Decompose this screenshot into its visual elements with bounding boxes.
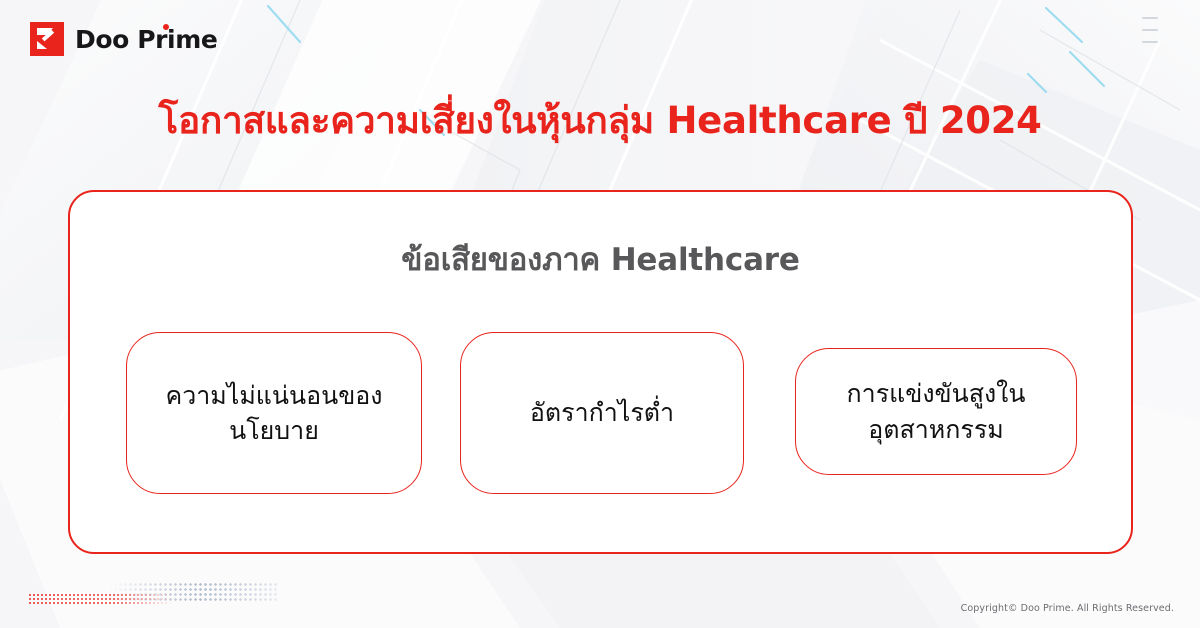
- content-card: ข้อเสียของภาค Healthcare ความไม่แน่นอนขอ…: [68, 190, 1133, 554]
- item-box: ความไม่แน่นอนของนโยบาย: [126, 332, 422, 494]
- brand-name: Doo Prime: [75, 25, 217, 54]
- page-title: โอกาสและความเสี่ยงในหุ้นกลุ่ม Healthcare…: [0, 98, 1200, 144]
- item-box-label: อัตรากำไรต่ำ: [530, 395, 674, 431]
- brand-logo[interactable]: Doo Prime: [30, 22, 217, 56]
- item-box-label: การแข่งขันสูงในอุตสาหกรรม: [810, 376, 1062, 447]
- copyright-notice: Copyright© Doo Prime. All Rights Reserve…: [961, 603, 1174, 614]
- halftone-dots-decoration-icon: [28, 582, 278, 610]
- item-box: การแข่งขันสูงในอุตสาหกรรม: [795, 348, 1077, 475]
- halftone-dots-red-icon: [28, 593, 173, 606]
- card-heading: ข้อเสียของภาค Healthcare: [70, 234, 1131, 284]
- item-box: อัตรากำไรต่ำ: [460, 332, 744, 494]
- item-box-label: ความไม่แน่นอนของนโยบาย: [141, 378, 407, 449]
- doo-prime-flag-icon: [30, 22, 64, 56]
- brand-name-text: Doo Prime: [75, 25, 217, 54]
- logo-accent-dot-icon: [163, 24, 169, 30]
